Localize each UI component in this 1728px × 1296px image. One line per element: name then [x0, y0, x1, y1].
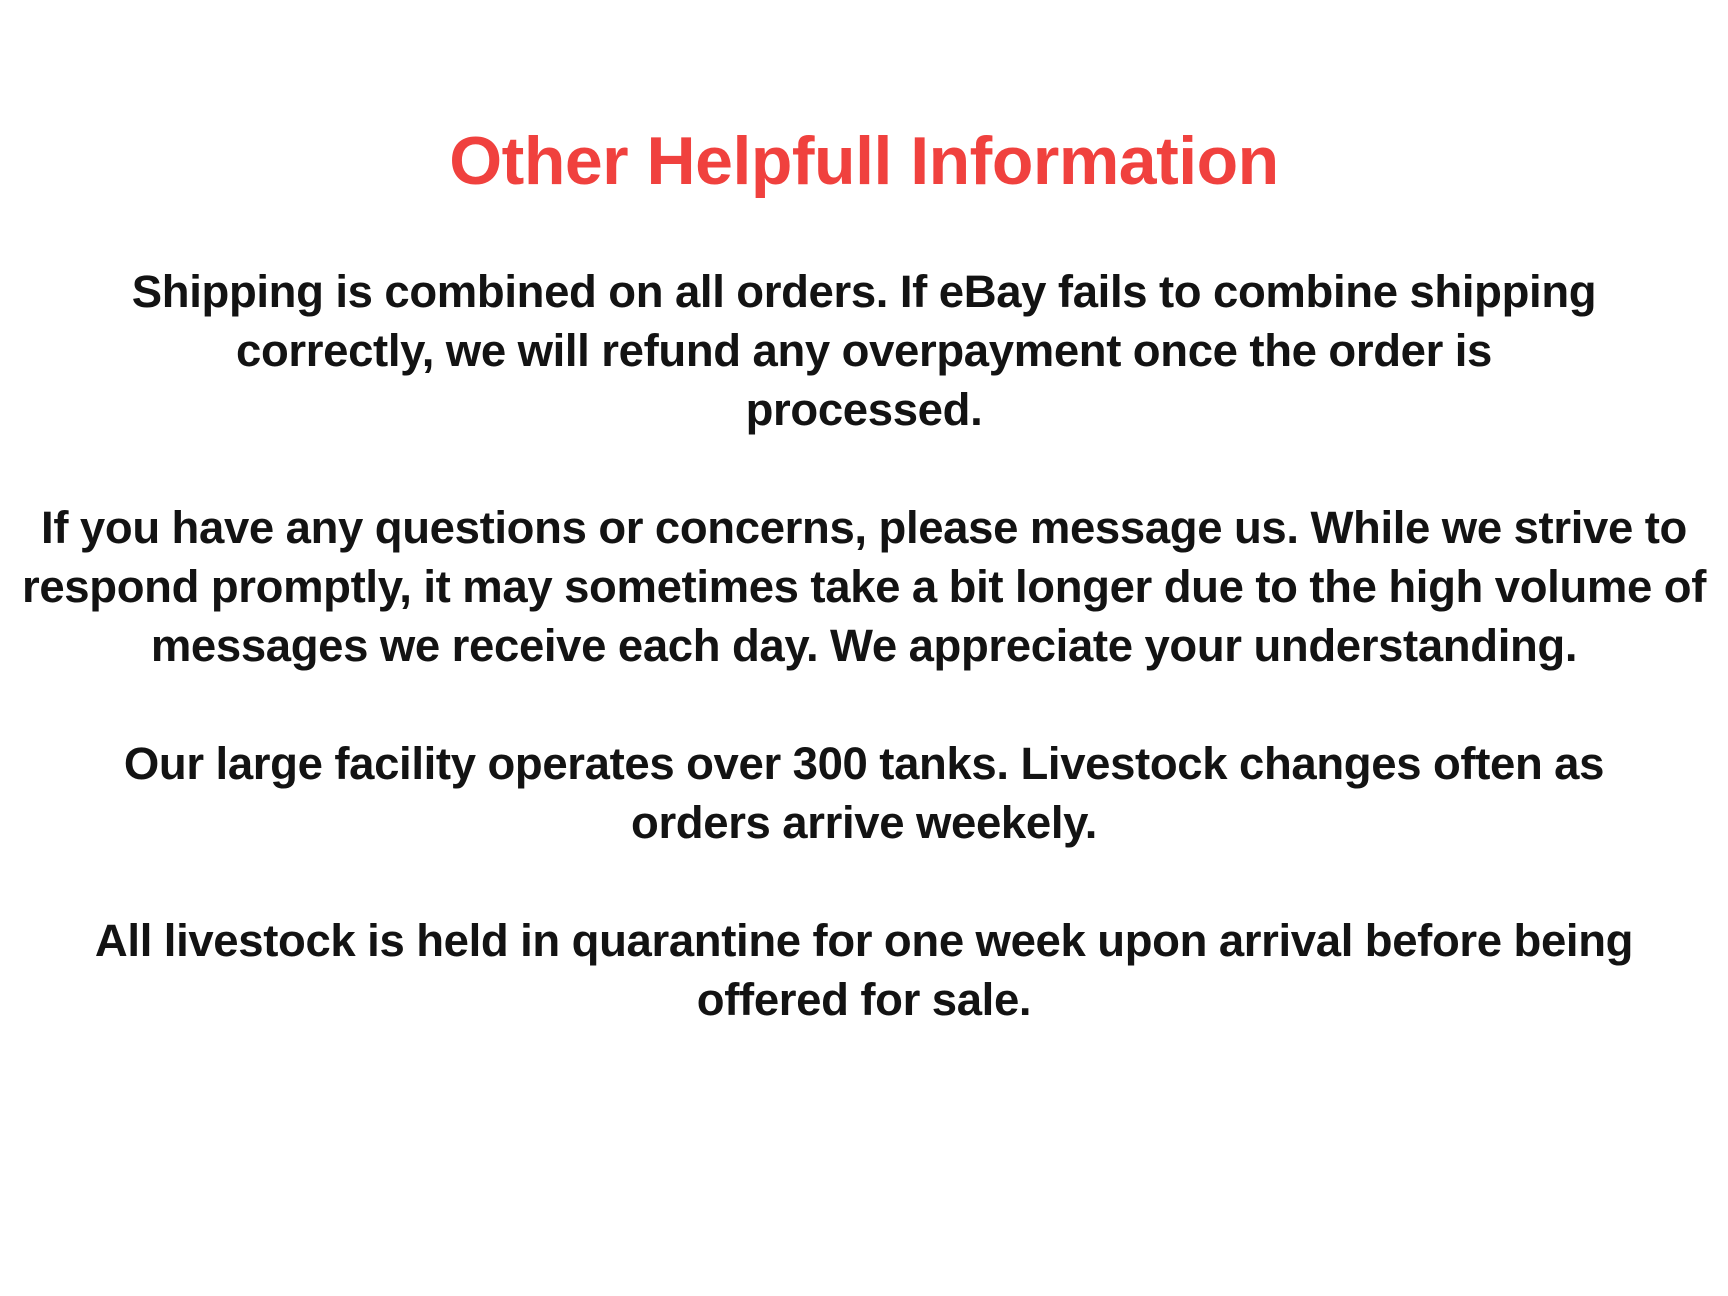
paragraph-shipping-combined: Shipping is combined on all orders. If e… [119, 262, 1609, 439]
body-content: Shipping is combined on all orders. If e… [0, 262, 1728, 1029]
paragraph-spacer [0, 852, 1728, 911]
page-title: Other Helpfull Information [0, 126, 1728, 197]
paragraph-quarantine-policy: All livestock is held in quarantine for … [69, 911, 1659, 1029]
paragraph-spacer [0, 439, 1728, 498]
paragraph-spacer [0, 675, 1728, 734]
information-page: Other Helpfull Information Shipping is c… [0, 0, 1728, 1296]
paragraph-contact-response-time: If you have any questions or concerns, p… [0, 498, 1728, 675]
paragraph-facility-tanks: Our large facility operates over 300 tan… [114, 734, 1614, 852]
